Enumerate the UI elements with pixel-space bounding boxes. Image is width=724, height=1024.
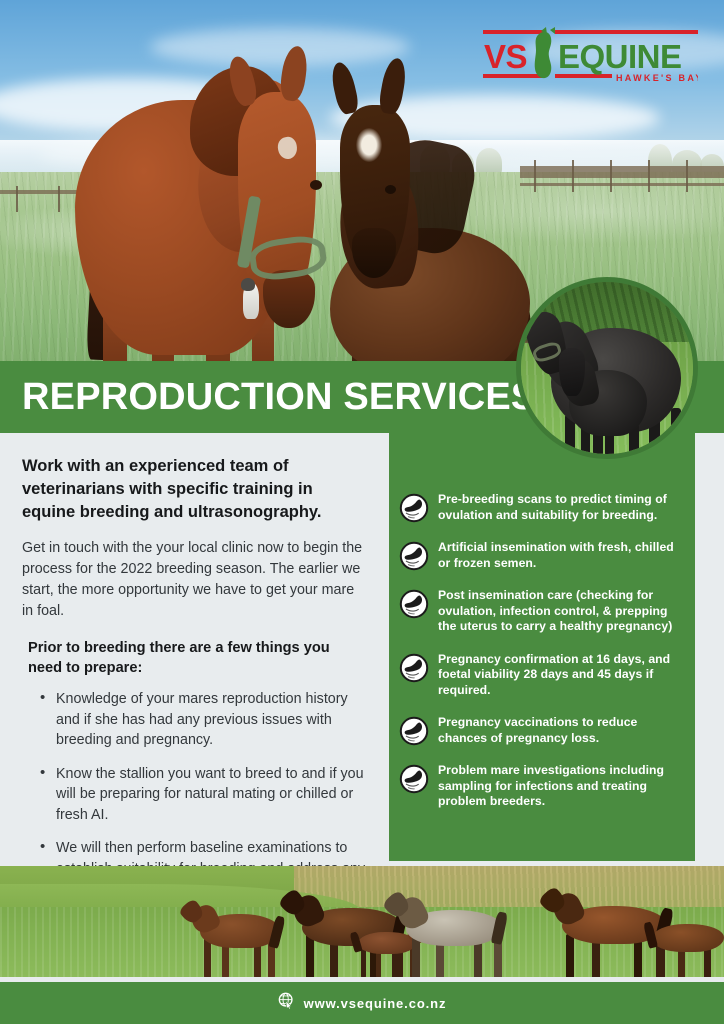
service-item: Artificial insemination with fresh, chil… [399,540,681,571]
bottom-photo-band [0,866,724,977]
service-label: Problem mare investigations including sa… [438,763,681,810]
lead-statement: Work with an experienced team of veterin… [22,455,367,524]
horse-head-circle-icon [399,493,429,523]
horse-head-circle-icon [399,653,429,683]
website-url[interactable]: www.vsequine.co.nz [304,996,447,1011]
svg-text:EQUINE: EQUINE [558,38,682,75]
cloud-decor [150,28,410,66]
service-item: Problem mare investigations including sa… [399,763,681,810]
left-content-panel: Work with an experienced team of veterin… [0,433,389,861]
brand-logo[interactable]: VS EQUINE HAWKE'S BAY [483,27,698,85]
horse-head-circle-icon [399,764,429,794]
prep-heading: Prior to breeding there are a few things… [28,638,367,678]
service-label: Post insemination care (checking for ovu… [438,588,681,635]
list-item: Know the stallion you want to breed to a… [40,764,367,826]
service-label: Pregnancy confirmation at 16 days, and f… [438,652,681,699]
list-item: Knowledge of your mares reproduction his… [40,689,367,751]
globe-cursor-icon [278,992,295,1014]
service-item: Pre-breeding scans to predict timing of … [399,492,681,523]
svg-text:VS: VS [484,38,527,75]
poster-root: VS EQUINE HAWKE'S BAY REPRODUCTION SERVI… [0,0,724,1024]
service-label: Pregnancy vaccinations to reduce chances… [438,715,681,746]
services-panel: Pre-breeding scans to predict timing of … [389,433,695,861]
horse-head-circle-icon [399,589,429,619]
service-item: Post insemination care (checking for ovu… [399,588,681,635]
svg-text:HAWKE'S BAY: HAWKE'S BAY [616,73,698,83]
horse-head-circle-icon [399,716,429,746]
service-item: Pregnancy vaccinations to reduce chances… [399,715,681,746]
inset-circle-photo [516,277,698,459]
footer-bar: www.vsequine.co.nz [0,982,724,1024]
service-label: Artificial insemination with fresh, chil… [438,540,681,571]
horse-head-circle-icon [399,541,429,571]
intro-paragraph: Get in touch with the your local clinic … [22,538,367,622]
page-title: REPRODUCTION SERVICES [22,376,536,418]
horse-head-icon: VS EQUINE HAWKE'S BAY [483,27,698,85]
service-label: Pre-breeding scans to predict timing of … [438,492,681,523]
service-item: Pregnancy confirmation at 16 days, and f… [399,652,681,699]
